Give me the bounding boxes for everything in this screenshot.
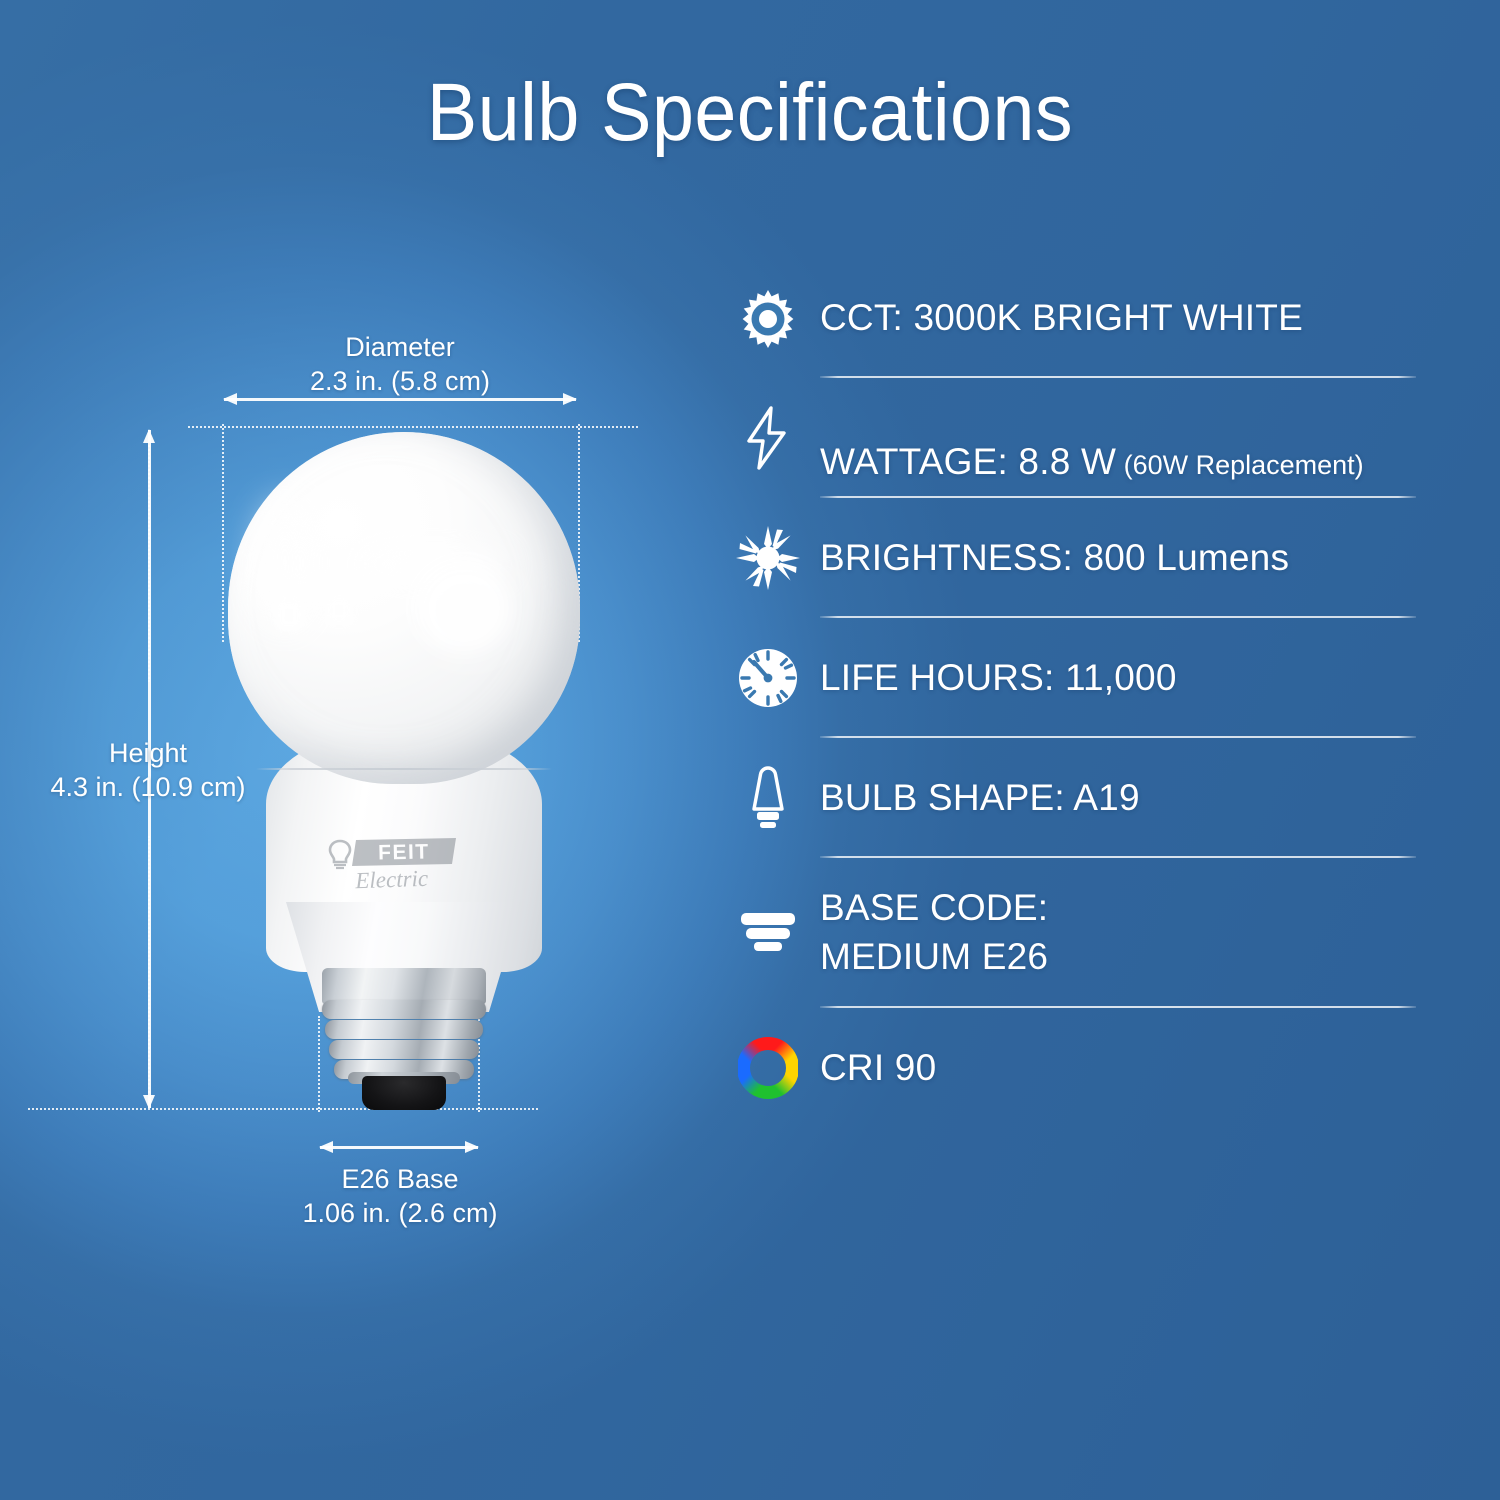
base-label-title: E26 Base (250, 1162, 550, 1196)
base-contact-tip (362, 1076, 446, 1110)
bulb-screw-base (318, 968, 490, 1110)
bulb-highlight-dot-1 (276, 600, 302, 630)
spec-label-bulb-shape: BULB SHAPE: A19 (820, 774, 1140, 823)
spec-row-base-code: BASE CODE: MEDIUM E26 (716, 858, 1416, 1008)
bulb-image: FEIT Electric (228, 432, 580, 1110)
spec-row-bulb-shape: BULB SHAPE: A19 (716, 738, 1416, 858)
guide-line-bulb-top (188, 426, 638, 428)
spec-label-wattage: WATTAGE: 8.8 W (60W Replacement) (820, 389, 1364, 487)
base-thread-3 (329, 1040, 479, 1059)
bulb-highlight-dot-2 (326, 596, 352, 624)
sunburst-icon (716, 526, 820, 590)
spec-row-brightness: BRIGHTNESS: 800 Lumens (716, 498, 1416, 618)
sun-gear-icon (716, 287, 820, 349)
feit-electric-logo: FEIT Electric (326, 832, 458, 892)
spec-label-base-code: BASE CODE: MEDIUM E26 (820, 884, 1048, 982)
base-label-value: 1.06 in. (2.6 cm) (250, 1196, 550, 1230)
diameter-arrow (224, 398, 576, 401)
svg-text:Electric: Electric (354, 866, 429, 892)
spec-label-wattage-suffix: (60W Replacement) (1116, 450, 1364, 480)
spec-row-cri: CRI 90 (716, 1008, 1416, 1128)
base-arrow (320, 1146, 478, 1149)
clock-icon (716, 648, 820, 708)
base-thread-1 (322, 1000, 486, 1019)
bulb-seam (256, 768, 552, 770)
base-collar (322, 968, 486, 1004)
svg-text:FEIT: FEIT (378, 840, 430, 864)
lightning-bolt-icon (716, 406, 820, 470)
base-thread-2 (325, 1020, 483, 1039)
diameter-label-title: Diameter (222, 330, 578, 364)
spec-label-brightness: BRIGHTNESS: 800 Lumens (820, 534, 1289, 583)
screw-base-icon (716, 909, 820, 957)
spec-label-life-hours: LIFE HOURS: 11,000 (820, 654, 1177, 703)
bulb-dimension-panel: Diameter 2.3 in. (5.8 cm) Height 4.3 in.… (0, 0, 700, 1500)
spec-label-wattage-main: WATTAGE: 8.8 W (820, 441, 1116, 482)
spec-row-wattage: WATTAGE: 8.8 W (60W Replacement) (716, 378, 1416, 498)
specifications-list: CCT: 3000K BRIGHT WHITE WATTAGE: 8.8 W (… (716, 258, 1416, 1128)
bulb-highlight-main (416, 562, 512, 654)
diameter-label: Diameter 2.3 in. (5.8 cm) (222, 330, 578, 399)
base-label: E26 Base 1.06 in. (2.6 cm) (250, 1162, 550, 1231)
bulb-outline-icon (716, 765, 820, 831)
diameter-label-value: 2.3 in. (5.8 cm) (222, 364, 578, 398)
color-wheel-icon (716, 1036, 820, 1100)
spec-label-cri: CRI 90 (820, 1044, 936, 1093)
guide-line-diameter-left (222, 424, 224, 642)
spec-label-cct: CCT: 3000K BRIGHT WHITE (820, 294, 1303, 343)
spec-row-cct: CCT: 3000K BRIGHT WHITE (716, 258, 1416, 378)
spec-row-life-hours: LIFE HOURS: 11,000 (716, 618, 1416, 738)
